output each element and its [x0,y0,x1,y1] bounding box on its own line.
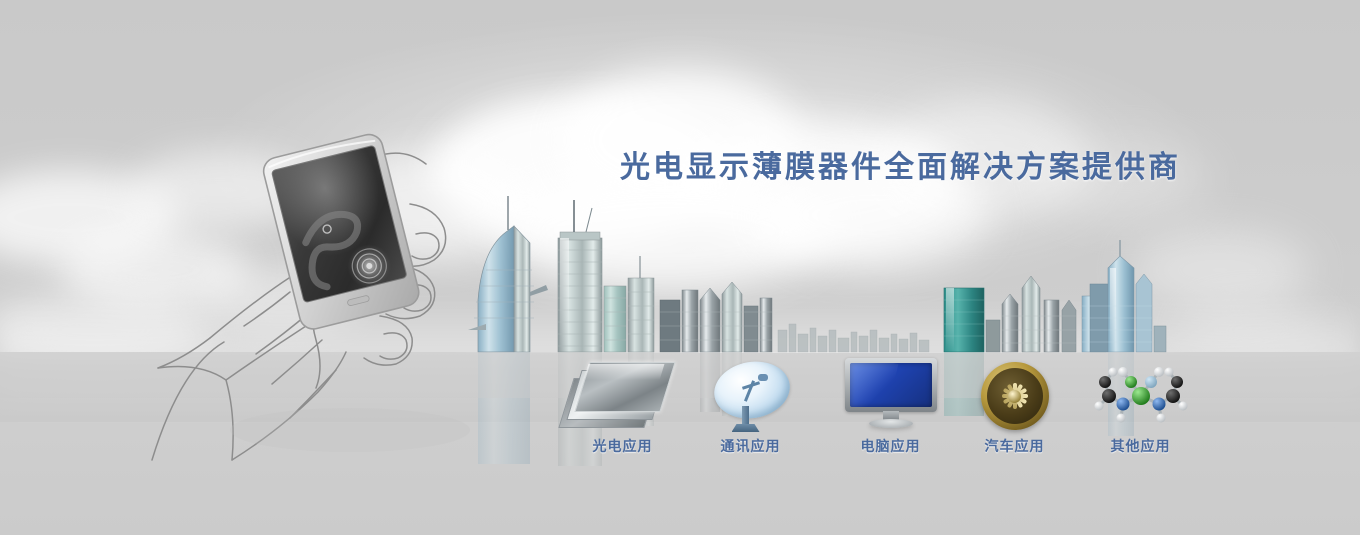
car-wheel-icon [952,356,1077,434]
satellite-dish-icon [688,356,813,434]
application-label: 电脑应用 [828,436,953,456]
application-item-optoelectronic[interactable]: 光电应用 [560,356,685,466]
application-label: 汽车应用 [952,436,1077,456]
hand-holding-phone-illustration [140,130,480,490]
application-label: 光电应用 [560,436,685,456]
application-item-automotive[interactable]: 汽车应用 [952,356,1077,466]
molecule-icon [1078,356,1203,434]
application-label: 其他应用 [1078,436,1203,456]
page-title: 光电显示薄膜器件全面解决方案提供商 [620,142,1181,186]
banner-stage: 光电显示薄膜器件全面解决方案提供商 光电应用 [0,0,1360,535]
computer-monitor-icon [828,356,953,434]
application-icon-row: 光电应用 通讯应用 [560,356,1210,466]
application-item-computer[interactable]: 电脑应用 [828,356,953,466]
application-item-other[interactable]: 其他应用 [1078,356,1203,466]
application-item-communication[interactable]: 通讯应用 [688,356,813,466]
application-label: 通讯应用 [688,436,813,456]
glass-panels-icon [560,356,685,434]
